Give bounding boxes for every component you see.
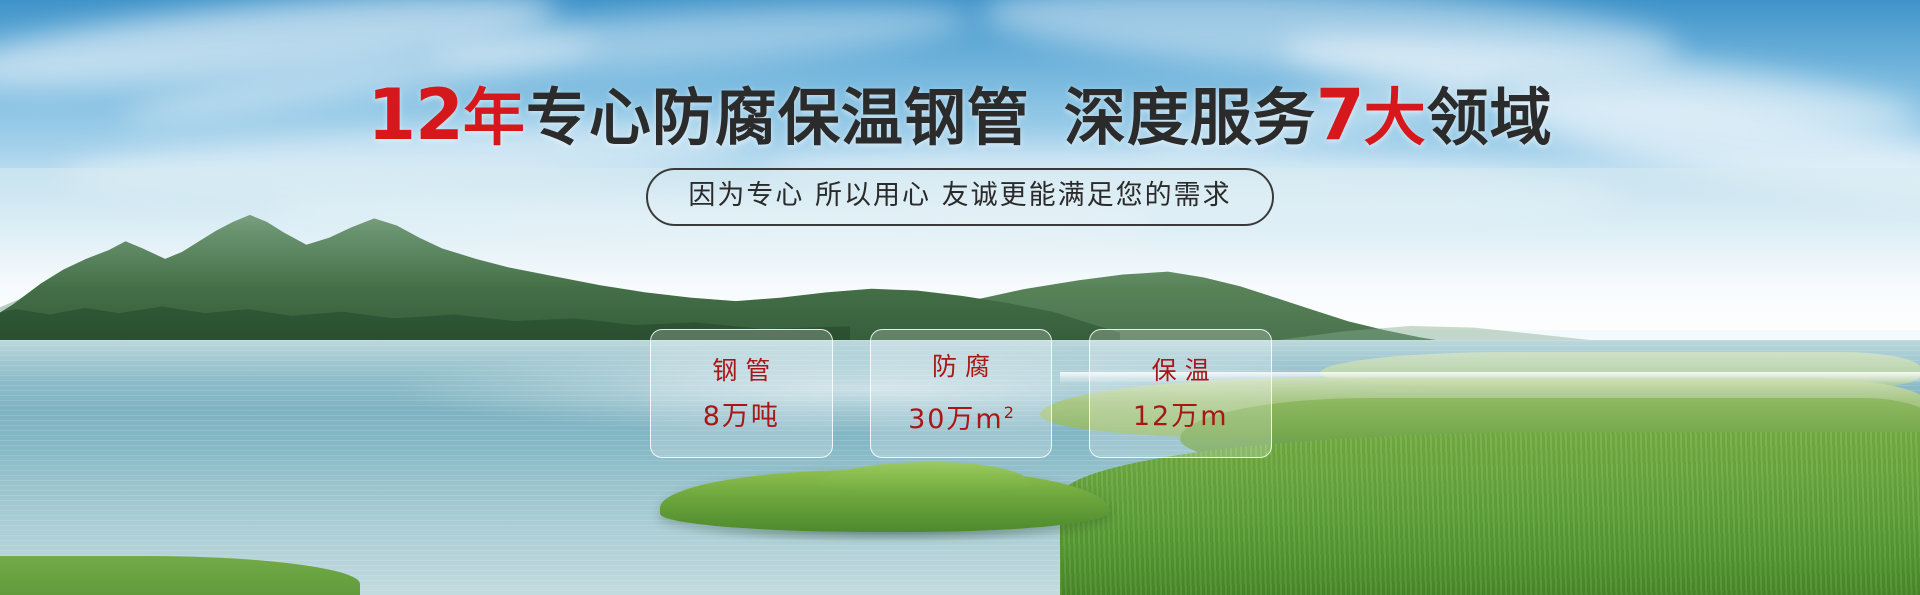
headline-years-number: 12 <box>367 74 462 156</box>
headline-fields-unit: 大 <box>1364 81 1427 154</box>
stat-card-value-main: 30万m <box>908 404 1004 435</box>
headline-service-phrase: 深度服务 <box>1064 81 1316 154</box>
stat-card-label: 防腐 <box>924 352 998 382</box>
stat-card-list: 钢管 8万吨 防腐 30万m2 保温 12万m <box>650 329 1272 458</box>
stat-card-value-superscript: 2 <box>1004 403 1014 422</box>
stat-card[interactable]: 防腐 30万m2 <box>870 329 1053 458</box>
stat-card-value: 30万m2 <box>908 398 1014 435</box>
headline-fields-word: 领域 <box>1427 81 1553 154</box>
banner-subtitle: 因为专心 所以用心 友诚更能满足您的需求 <box>646 168 1273 226</box>
headline-main-phrase: 专心防腐保温钢管 <box>526 81 1030 154</box>
stat-card-value-main: 8万吨 <box>703 401 780 432</box>
banner-headline: 12年专心防腐保温钢管深度服务7大领域 <box>0 82 1920 151</box>
stat-card[interactable]: 钢管 8万吨 <box>650 329 833 458</box>
hero-banner: 12年专心防腐保温钢管深度服务7大领域 因为专心 所以用心 友诚更能满足您的需求… <box>0 0 1920 595</box>
headline-years-unit: 年 <box>463 81 526 154</box>
stat-card-value: 12万m <box>1133 402 1229 432</box>
stat-card-value-main: 12万m <box>1133 401 1229 432</box>
stat-card-value: 8万吨 <box>703 402 780 432</box>
stat-card-label: 保温 <box>1144 356 1218 386</box>
stat-card-label: 钢管 <box>704 356 778 386</box>
headline-fields-number: 7 <box>1316 74 1364 156</box>
stat-card[interactable]: 保温 12万m <box>1089 329 1272 458</box>
banner-subtitle-wrap: 因为专心 所以用心 友诚更能满足您的需求 <box>0 168 1920 226</box>
